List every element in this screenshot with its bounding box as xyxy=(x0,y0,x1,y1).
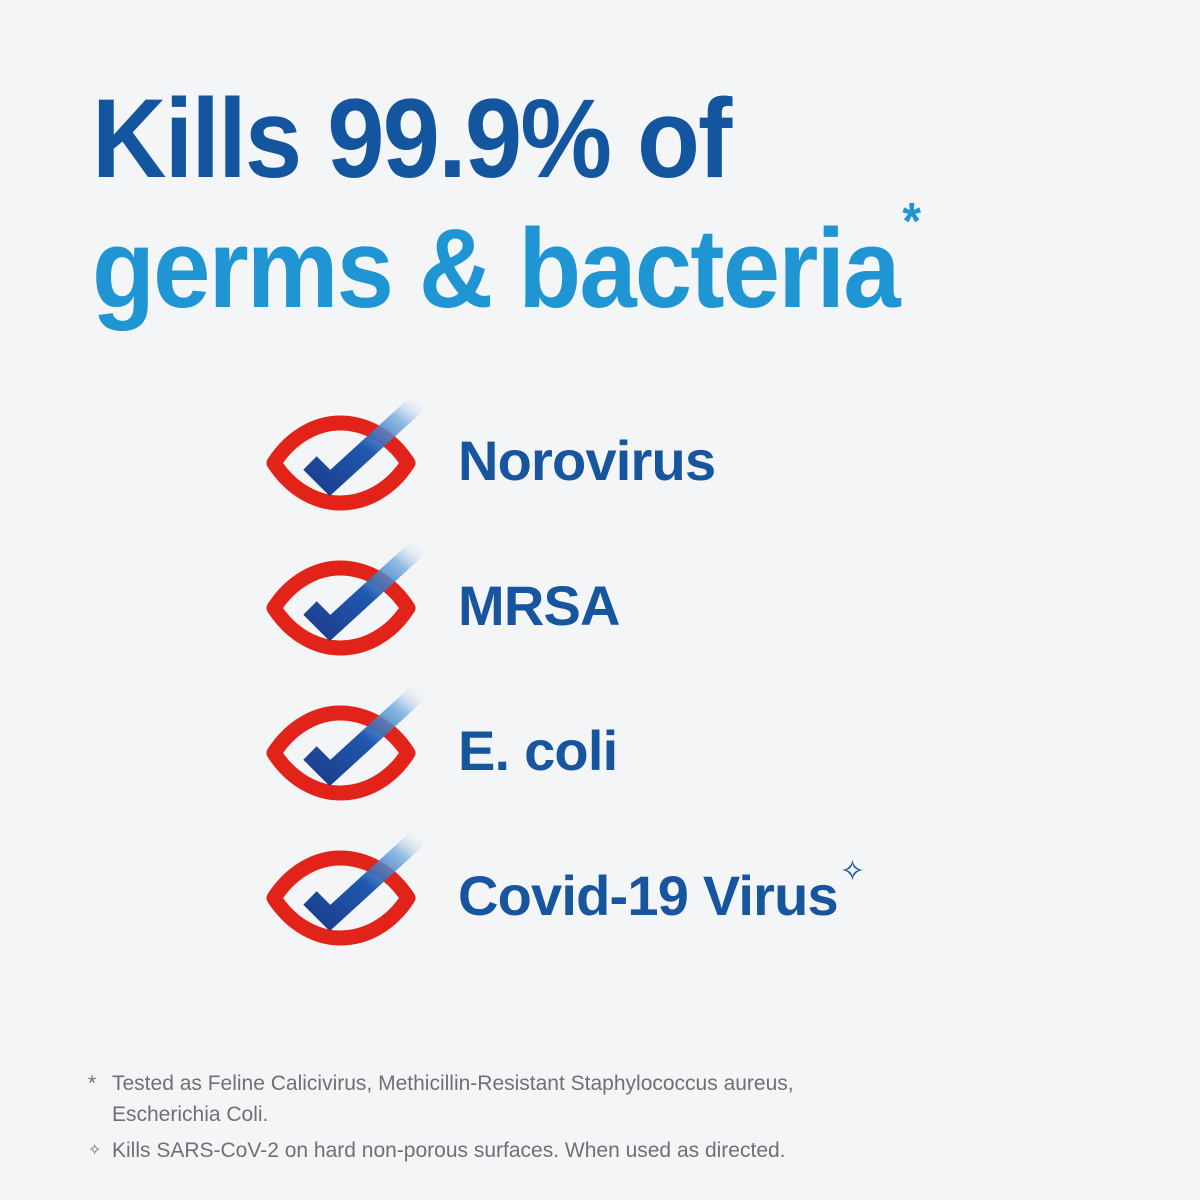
list-item: Covid-19 Virus✧ xyxy=(262,821,1162,966)
headline-line-2-text: germs & bacteria xyxy=(92,206,899,331)
benefit-label-text: Covid-19 Virus xyxy=(458,864,838,927)
red-lens-blue-checkmark-icon xyxy=(262,832,430,950)
list-item: E. coli xyxy=(262,676,1162,821)
benefit-label: MRSA xyxy=(458,578,620,634)
headline-asterisk-marker: * xyxy=(902,193,921,251)
headline-line-1: Kills 99.9% of xyxy=(92,74,1030,204)
red-lens-blue-checkmark-icon xyxy=(262,687,430,805)
footnotes: * Tested as Feline Calicivirus, Methicil… xyxy=(88,1068,1048,1166)
benefit-label: Covid-19 Virus✧ xyxy=(458,868,862,924)
red-lens-blue-checkmark-icon xyxy=(262,542,430,660)
headline-line-2: germs & bacteria* xyxy=(92,204,1030,334)
page-title: Kills 99.9% of germs & bacteria* xyxy=(92,74,1112,334)
benefit-label-text: E. coli xyxy=(458,719,617,782)
list-item: MRSA xyxy=(262,531,1162,676)
promo-canvas: Kills 99.9% of germs & bacteria* xyxy=(0,0,1200,1200)
footnote-sparkle: ✧ Kills SARS-CoV-2 on hard non-porous su… xyxy=(88,1135,1048,1166)
footnote-marker: ✧ xyxy=(88,1135,112,1166)
benefit-label-text: Norovirus xyxy=(458,429,715,492)
benefit-label: Norovirus xyxy=(458,433,715,489)
benefit-label: E. coli xyxy=(458,723,617,779)
benefit-superscript: ✧ xyxy=(840,855,864,888)
footnote-asterisk: * Tested as Feline Calicivirus, Methicil… xyxy=(88,1068,1048,1130)
footnote-text: Tested as Feline Calicivirus, Methicilli… xyxy=(112,1068,812,1130)
benefit-label-text: MRSA xyxy=(458,574,620,637)
footnote-marker: * xyxy=(88,1068,112,1099)
list-item: Norovirus xyxy=(262,386,1162,531)
benefit-list: Norovirus MRSA xyxy=(262,386,1162,966)
footnote-text: Kills SARS-CoV-2 on hard non-porous surf… xyxy=(112,1135,812,1166)
red-lens-blue-checkmark-icon xyxy=(262,397,430,515)
